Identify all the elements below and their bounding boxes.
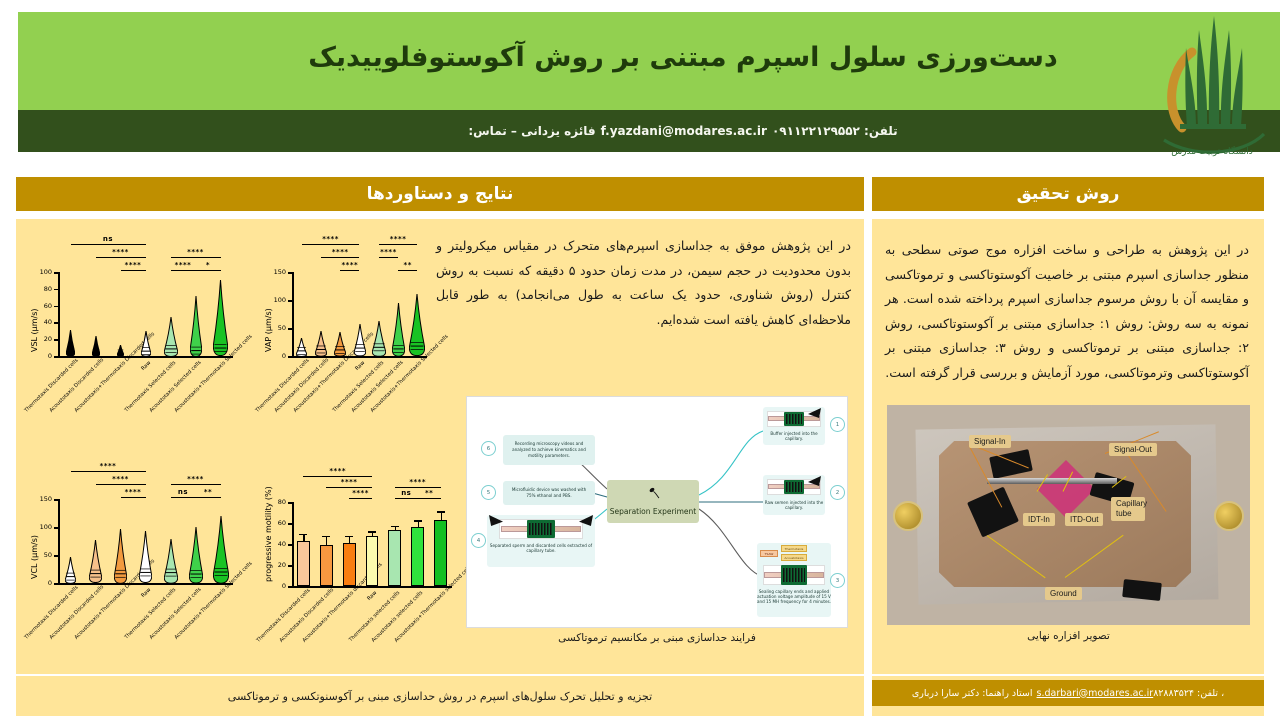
sperm-icon	[647, 485, 661, 504]
diagram-step-number-5: 5	[481, 485, 496, 500]
y-tick	[54, 322, 58, 324]
significance-label: ****	[121, 261, 146, 269]
diagram-chip-label-tsaw: TSAW	[760, 550, 778, 557]
significance-label: *	[196, 261, 221, 269]
footer-left: تجزیه و تحلیل تحرک سلول‌های اسپرم در روش…	[16, 676, 864, 716]
device-caption: تصویر افزاره نهایی	[887, 630, 1250, 642]
method-body-text: در این پژوهش به طراحی و ساخت افزاره موج …	[885, 238, 1249, 385]
section-header-results: نتایج و دستاوردها	[16, 177, 864, 211]
y-tick	[54, 272, 58, 274]
significance-bar	[121, 270, 146, 271]
y-tick	[54, 289, 58, 291]
significance-bar	[171, 257, 221, 258]
error-bar-cap	[437, 511, 445, 512]
significance-bar	[326, 487, 372, 488]
violin-shape	[372, 321, 386, 356]
significance-bar	[340, 270, 359, 271]
diagram-step-4-text: Separated sperm and discarded cells extr…	[487, 543, 595, 553]
x-axis	[58, 356, 233, 358]
chart-vsl: VSL (µm/s)020406080100ns****************…	[24, 228, 239, 358]
violin-shape	[189, 527, 203, 583]
violin-shape	[164, 317, 178, 356]
diagram-card-1: Buffer injected into the capillary.	[763, 407, 825, 445]
significance-bar	[171, 270, 196, 271]
significance-bar	[418, 498, 441, 499]
diagram-step-6-text: Recording microscopy videos and analyzed…	[507, 441, 591, 459]
violin-shape	[213, 516, 229, 583]
significance-label: ****	[321, 248, 360, 256]
y-tick	[288, 544, 292, 546]
bar	[366, 536, 379, 586]
bar	[297, 541, 310, 586]
device-label-itd-out: ITD-Out	[1065, 513, 1103, 526]
diagram-step-number-3: 3	[830, 573, 845, 588]
significance-label: ****	[303, 467, 372, 475]
significance-label: ****	[379, 248, 398, 256]
violin-shape	[65, 557, 76, 583]
footer-advisor-phone: ، تلفن: ۸۲۸۸۳۵۲۴	[1153, 688, 1224, 699]
significance-label: **	[418, 489, 441, 497]
device-capillary-tube	[987, 478, 1117, 484]
device-sma-connector-right	[1214, 501, 1244, 531]
svg-text:دانشگاه تربیت مدرس: دانشگاه تربیت مدرس	[1171, 145, 1253, 157]
y-tick	[54, 527, 58, 529]
significance-label: ****	[340, 261, 359, 269]
diagram-step-number-1: 1	[830, 417, 845, 432]
university-logo: دانشگاه تربیت مدرس	[1152, 8, 1272, 158]
contact-name: فائزه یزدانی – تماس:	[468, 124, 595, 138]
y-tick	[54, 555, 58, 557]
y-tick	[288, 523, 292, 525]
device-label-capillary-tube: Capillary tube	[1111, 497, 1145, 521]
significance-label: ****	[171, 475, 221, 483]
violin-shape	[334, 332, 346, 356]
contact-phone: تلفن: ۰۹۱۱۲۲۱۲۹۵۵۲	[772, 124, 898, 138]
significance-bar	[171, 484, 221, 485]
y-axis	[292, 502, 294, 586]
y-tick	[288, 565, 292, 567]
device-label-idt-in: IDT-In	[1023, 513, 1055, 526]
y-tick-label: 0	[266, 582, 286, 590]
violin-shape	[89, 540, 102, 583]
y-tick-label: 100	[266, 296, 286, 304]
significance-label: ****	[326, 478, 372, 486]
violin-shape	[190, 296, 202, 356]
x-axis	[292, 586, 452, 588]
violin-shape	[164, 539, 178, 583]
y-tick	[288, 356, 292, 358]
significance-bar	[321, 257, 360, 258]
significance-label: ****	[395, 478, 441, 486]
significance-label: **	[196, 488, 221, 496]
section-header-method: روش تحقیق	[872, 177, 1264, 211]
significance-bar	[71, 244, 146, 245]
footer-advisor-email[interactable]: s.darbari@modares.ac.ir	[1037, 688, 1154, 699]
error-bar-cap	[322, 536, 330, 537]
significance-label: ns	[71, 235, 146, 243]
contact-email[interactable]: f.yazdani@modares.ac.ir	[601, 124, 767, 138]
device-label-ground: Ground	[1045, 587, 1082, 600]
significance-bar	[196, 497, 221, 498]
error-bar-cap	[368, 531, 376, 532]
y-tick	[54, 499, 58, 501]
significance-bar	[303, 476, 372, 477]
significance-bar	[379, 244, 418, 245]
device-photo: Signal-In Signal-Out IDT-In ITD-Out Capi…	[887, 405, 1250, 625]
y-tick	[54, 306, 58, 308]
diagram-step-number-4: 4	[471, 533, 486, 548]
device-black-block-4	[1122, 579, 1162, 601]
significance-bar	[96, 484, 146, 485]
error-bar-cap	[299, 534, 307, 535]
significance-bar	[171, 497, 196, 498]
diagram-caption: فرایند حداسازی مبنی بر مکانسیم ترموتاکسی	[466, 632, 848, 644]
y-axis-label: VCL (µm/s)	[30, 505, 39, 579]
violin-shape	[354, 324, 366, 356]
significance-bar	[96, 257, 146, 258]
page-title: دست‌ورزی سلول اسپرم مبتنی بر روش آکوستوف…	[18, 22, 1280, 92]
significance-label: ****	[121, 488, 146, 496]
diagram-card-2: Raw semen injected into the capillary.	[763, 475, 825, 515]
y-tick-label: 100	[32, 523, 52, 531]
violin-shape	[315, 331, 327, 356]
y-axis	[58, 272, 60, 356]
significance-label: ****	[96, 248, 146, 256]
diagram-step-1-text: Buffer injected into the capillary.	[763, 431, 825, 441]
significance-bar	[302, 244, 360, 245]
significance-bar	[398, 270, 417, 271]
diagram-step-5-text: Microfluidic device was washed with 75% …	[507, 487, 591, 499]
y-tick	[54, 356, 58, 358]
diagram-card-4: Separated sperm and discarded cells extr…	[487, 515, 595, 567]
y-tick-label: 150	[32, 495, 52, 503]
bar	[320, 545, 333, 586]
y-tick-label: 50	[266, 324, 286, 332]
significance-label: ****	[349, 489, 372, 497]
diagram-step-number-6: 6	[481, 441, 496, 456]
bar	[343, 543, 356, 586]
poster-root: دست‌ورزی سلول اسپرم مبتنی بر روش آکوستوف…	[0, 0, 1280, 720]
device-label-signal-in: Signal-In	[969, 435, 1011, 448]
diagram-step-6-box: Recording microscopy videos and analyzed…	[503, 435, 595, 465]
y-tick	[54, 583, 58, 585]
diagram-step-2-text: Raw semen injected into the capillary.	[763, 500, 825, 510]
diagram-chip-label-thermotaxis: Thermotaxis	[781, 545, 807, 552]
chart-vap: VAP (µm/s)050100150*********************…	[258, 228, 433, 358]
contact-line: تلفن: ۰۹۱۱۲۲۱۲۹۵۵۲ f.yazdani@modares.ac.…	[18, 110, 1280, 152]
chart-vcl: VCL (µm/s)050100150****************ns**T…	[24, 455, 239, 585]
significance-label: ****	[171, 248, 221, 256]
significance-label: **	[398, 261, 417, 269]
violin-shape	[296, 338, 307, 356]
x-axis	[292, 356, 427, 358]
y-tick-label: 40	[266, 540, 286, 548]
diagram-step-3-text: Sealing capillary ends and applied actua…	[757, 589, 831, 604]
error-bar-cap	[391, 526, 399, 527]
y-tick	[288, 300, 292, 302]
violin-shape	[409, 294, 425, 356]
significance-label: ****	[379, 235, 418, 243]
bar	[411, 527, 424, 586]
bar	[388, 530, 401, 586]
y-axis	[58, 499, 60, 583]
significance-label: ****	[71, 462, 146, 470]
y-tick-label: 0	[32, 579, 52, 587]
y-tick-label: 60	[266, 519, 286, 527]
diagram-step-5-box: Microfluidic device was washed with 75% …	[503, 481, 595, 505]
significance-bar	[71, 471, 146, 472]
footer-advisor-name: استاد راهنما: دکتر سارا درباری	[912, 688, 1033, 699]
violin-shape	[114, 529, 127, 583]
error-bar-cap	[414, 520, 422, 521]
separation-experiment-diagram: Separation Experiment Buffer injected in…	[466, 396, 848, 628]
footer-right: ، تلفن: ۸۲۸۸۳۵۲۴ s.darbari@modares.ac.ir…	[872, 680, 1264, 706]
y-tick-label: 20	[266, 561, 286, 569]
results-body-text: در این پژوهش موفق به جداسازی اسپرم‌های م…	[436, 234, 851, 332]
significance-label: ns	[171, 488, 196, 496]
error-bar-cap	[345, 536, 353, 537]
y-tick	[288, 328, 292, 330]
violin-shape	[213, 280, 228, 356]
y-tick	[288, 586, 292, 588]
y-tick-label: 60	[32, 302, 52, 310]
violin-shape	[141, 331, 151, 356]
error-bar	[441, 511, 442, 519]
y-tick-label: 150	[266, 268, 286, 276]
y-tick	[288, 272, 292, 274]
y-tick-label: 40	[32, 318, 52, 326]
chart-progressive-motility: progressive motility (%)020406080*******…	[258, 458, 458, 588]
x-axis	[58, 583, 233, 585]
y-axis-label: VAP (µm/s)	[264, 278, 273, 352]
significance-bar	[379, 257, 398, 258]
violin-shape	[66, 330, 75, 356]
device-sma-connector-left	[893, 501, 923, 531]
y-tick-label: 20	[32, 335, 52, 343]
y-tick-label: 0	[266, 352, 286, 360]
y-tick-label: 80	[32, 285, 52, 293]
y-tick	[288, 502, 292, 504]
diagram-chip-label-acoustotaxis: Acoustotaxis	[781, 554, 807, 561]
violin-shape	[92, 336, 100, 356]
y-axis	[292, 272, 294, 356]
significance-bar	[121, 497, 146, 498]
violin-shape	[117, 345, 124, 356]
y-tick-label: 100	[32, 268, 52, 276]
significance-bar	[196, 270, 221, 271]
diagram-card-3: Thermotaxis Acoustotaxis TSAW Sealing ca…	[757, 543, 831, 617]
y-tick	[54, 339, 58, 341]
significance-bar	[395, 487, 441, 488]
diagram-center-label: Separation Experiment	[610, 507, 697, 516]
diagram-step-number-2: 2	[830, 485, 845, 500]
significance-label: ****	[302, 235, 360, 243]
significance-label: ns	[395, 489, 418, 497]
bar	[434, 520, 447, 586]
significance-bar	[349, 498, 372, 499]
significance-label: ****	[96, 475, 146, 483]
y-tick-label: 0	[32, 352, 52, 360]
y-tick-label: 50	[32, 551, 52, 559]
error-bar	[326, 536, 327, 544]
violin-shape	[139, 531, 152, 583]
device-label-signal-out: Signal-Out	[1109, 443, 1157, 456]
y-tick-label: 80	[266, 498, 286, 506]
significance-label: ****	[171, 261, 196, 269]
violin-shape	[392, 303, 405, 356]
significance-bar	[395, 498, 418, 499]
